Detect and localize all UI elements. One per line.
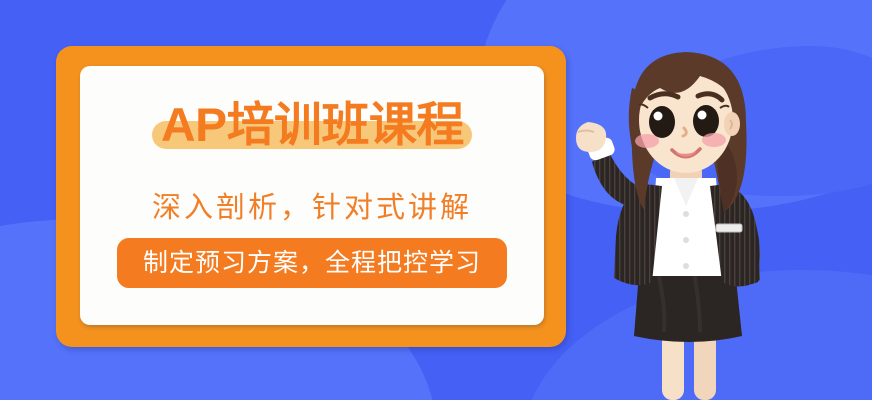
eye-left [649, 106, 675, 138]
white-card: AP培训班课程 深入剖析，针对式讲解 制定预习方案，全程把控学习 [80, 66, 544, 325]
tagline-pill: 制定预习方案，全程把控学习 [117, 238, 507, 288]
business-woman-illustration [574, 28, 872, 400]
orange-frame: AP培训班课程 深入剖析，针对式讲解 制定预习方案，全程把控学习 [56, 46, 566, 347]
headline-container: AP培训班课程 [80, 100, 544, 150]
subtitle-text: 深入剖析，针对式讲解 [80, 184, 544, 226]
blush-right [702, 133, 726, 147]
course-promo-banner: AP培训班课程 深入剖析，针对式讲解 制定预习方案，全程把控学习 [0, 0, 872, 400]
headline-text: AP培训班课程 [161, 100, 464, 150]
headline: AP培训班课程 [152, 100, 473, 150]
raised-fist [576, 122, 606, 152]
blush-left [635, 134, 659, 148]
tagline-container: 制定预习方案，全程把控学习 [80, 238, 544, 288]
eye-right [693, 105, 719, 137]
